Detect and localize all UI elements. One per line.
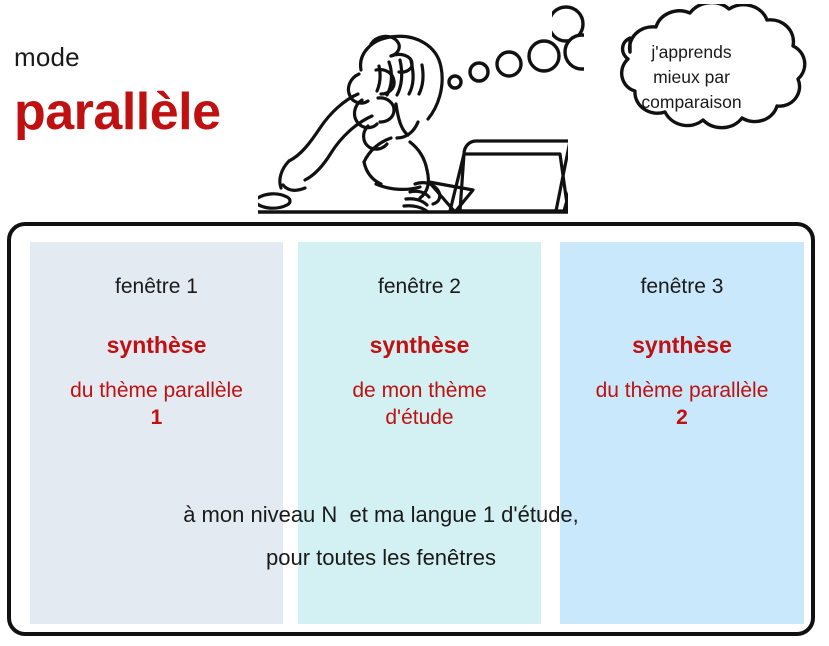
caption-line-2: pour toutes les fenêtres <box>51 537 711 580</box>
panel-2-subtitle: de mon thème d'étude <box>298 378 541 432</box>
panel-1-subtitle: du thème parallèle 1 <box>30 378 283 432</box>
thought-line-1: j'apprends <box>604 40 779 65</box>
panel-2-sub-line-2: d'étude <box>298 405 541 432</box>
panel-3-synthese: synthèse <box>560 334 804 357</box>
caption-line-1: à mon niveau N et ma langue 1 d'étude, <box>51 494 711 537</box>
thought-bubble: j'apprends mieux par comparaison <box>552 4 828 176</box>
panel-3-sub-line-2: 2 <box>560 405 804 432</box>
caption-overlay: à mon niveau N et ma langue 1 d'étude, p… <box>51 494 711 580</box>
panel-3-subtitle: du thème parallèle 2 <box>560 378 804 432</box>
panel-1-title: fenêtre 1 <box>30 276 283 297</box>
thought-dot-4 <box>529 41 559 71</box>
mode-title: parallèle <box>14 86 221 138</box>
panel-1-sub-line-1: du thème parallèle <box>30 378 283 405</box>
panel-3-title: fenêtre 3 <box>560 276 804 297</box>
panel-1-synthese: synthèse <box>30 334 283 357</box>
mode-label: mode <box>14 44 80 70</box>
panel-3-sub-line-1: du thème parallèle <box>560 378 804 405</box>
header-area: mode parallèle <box>0 0 829 222</box>
window-frame: fenêtre 1 synthèse du thème parallèle 1 … <box>7 222 815 636</box>
panel-1-sub-line-2: 1 <box>30 405 283 432</box>
panel-2-sub-line-1: de mon thème <box>298 378 541 405</box>
thought-line-3: comparaison <box>604 90 779 115</box>
thought-bubble-text: j'apprends mieux par comparaison <box>604 40 779 115</box>
panel-2-title: fenêtre 2 <box>298 276 541 297</box>
thought-dot-5 <box>565 35 584 69</box>
thought-line-2: mieux par <box>604 65 779 90</box>
thought-dot-1 <box>449 76 461 88</box>
thought-dot-3 <box>497 52 521 76</box>
thought-dot-2 <box>470 63 488 81</box>
panel-2-synthese: synthèse <box>298 334 541 357</box>
